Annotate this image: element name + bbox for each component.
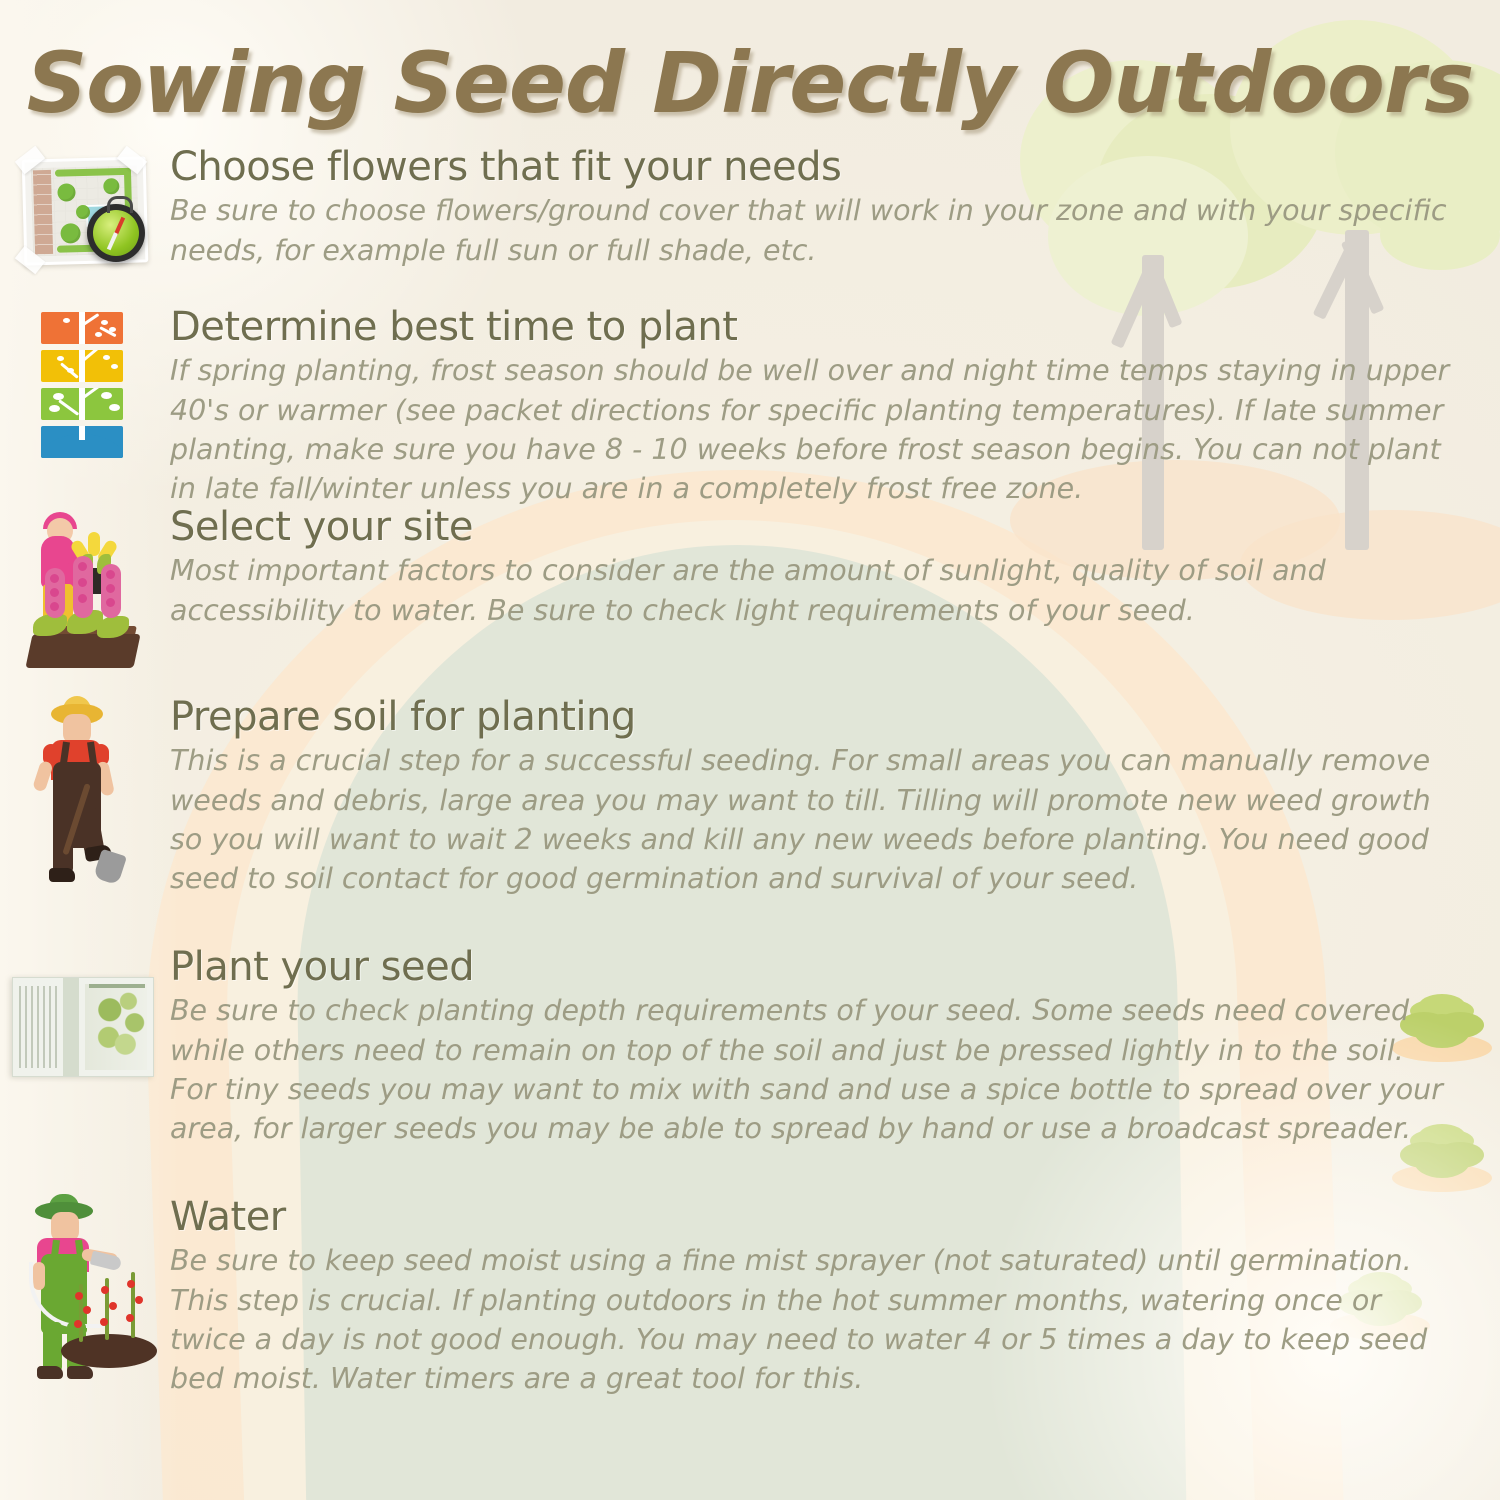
step-section: Plant your seed Be sure to check plantin…: [0, 946, 1500, 1196]
step-body: If spring planting, frost season should …: [170, 351, 1454, 508]
summer-leaf: [53, 393, 64, 400]
garden-plan-compass-icon: [15, 148, 155, 298]
autumn-leaf: [109, 327, 116, 332]
step-icon-container: [0, 1196, 170, 1386]
gardener-leg: [43, 1322, 62, 1372]
step-heading: Determine best time to plant: [170, 306, 1454, 349]
step-body: Most important factors to consider are t…: [170, 551, 1454, 630]
step-icon-container: [0, 306, 170, 466]
season-band-autumn: [41, 312, 123, 344]
page-title: Sowing Seed Directly Outdoors: [0, 34, 1500, 132]
step-heading: Water: [170, 1196, 1454, 1239]
summer-leaf: [101, 392, 112, 399]
foxglove-spike: [101, 564, 121, 618]
seed-packet-icon: [15, 946, 155, 1116]
step-body: Be sure to check planting depth requirem…: [170, 991, 1454, 1148]
season-band-winter: [41, 426, 123, 458]
infographic-poster: Sowing Seed Directly Outdoors: [0, 0, 1500, 1500]
step-icon-container: [0, 506, 170, 686]
gardener-boot: [37, 1366, 63, 1379]
step-text: Plant your seed Be sure to check plantin…: [170, 946, 1500, 1149]
season-trunk: [79, 388, 85, 420]
soil-mound: [61, 1334, 157, 1368]
four-seasons-tree-icon: [15, 306, 155, 466]
season-trunk: [79, 350, 85, 382]
step-icon-container: [0, 696, 170, 886]
compass-needle-south: [107, 232, 118, 250]
autumn-leaf: [63, 318, 70, 323]
step-text: Choose flowers that fit your needs Be su…: [170, 146, 1500, 270]
gardener-watering-hose-icon: [5, 1196, 165, 1386]
season-branch: [58, 399, 79, 416]
step-text: Select your site Most important factors …: [170, 506, 1500, 630]
farmer-boot: [49, 868, 75, 882]
spring-blossom: [103, 355, 110, 360]
packet-photo: [85, 984, 147, 1070]
compass-icon: [87, 204, 145, 262]
step-text: Water Be sure to keep seed moist using a…: [170, 1196, 1500, 1399]
step-body: Be sure to keep seed moist using a fine …: [170, 1241, 1454, 1398]
gardener-boot: [67, 1366, 93, 1379]
step-section: Determine best time to plant If spring p…: [0, 306, 1500, 506]
seasons-panel: [41, 312, 123, 460]
step-section: Prepare soil for planting This is a cruc…: [0, 696, 1500, 946]
season-trunk: [79, 426, 85, 440]
step-section: Select your site Most important factors …: [0, 506, 1500, 696]
step-icon-container: [0, 946, 170, 1116]
step-body: Be sure to choose flowers/ground cover t…: [170, 191, 1454, 270]
planter-box: [25, 634, 140, 668]
spring-blossom: [111, 364, 118, 369]
step-text: Determine best time to plant If spring p…: [170, 306, 1500, 509]
season-band-spring: [41, 350, 123, 382]
farmer-digging-shovel-icon: [15, 696, 155, 886]
step-heading: Select your site: [170, 506, 1454, 549]
step-section: Choose flowers that fit your needs Be su…: [0, 146, 1500, 306]
step-body: This is a crucial step for a successful …: [170, 741, 1454, 898]
summer-leaf: [109, 404, 120, 411]
gardener-planting-flowers-icon: [15, 506, 155, 686]
spring-blossom: [57, 356, 64, 361]
step-text: Prepare soil for planting This is a cruc…: [170, 696, 1500, 899]
steps-list: Choose flowers that fit your needs Be su…: [0, 146, 1500, 1446]
foxglove-spike: [73, 556, 93, 618]
step-heading: Choose flowers that fit your needs: [170, 146, 1454, 189]
step-icon-container: [0, 146, 170, 296]
spring-blossom: [67, 368, 74, 373]
flower-petal: [88, 532, 100, 556]
seed-packet: [12, 977, 154, 1077]
autumn-leaf: [101, 320, 108, 325]
step-heading: Plant your seed: [170, 946, 1454, 989]
season-band-summer: [41, 388, 123, 420]
season-trunk: [79, 312, 85, 344]
step-heading: Prepare soil for planting: [170, 696, 1454, 739]
packet-side-label: [89, 984, 145, 988]
step-section: Water Be sure to keep seed moist using a…: [0, 1196, 1500, 1446]
summer-leaf: [49, 405, 60, 412]
packet-band: [63, 978, 79, 1076]
autumn-leaf: [95, 332, 102, 337]
packet-text-lines: [19, 986, 57, 1068]
compass-ring: [107, 196, 133, 213]
plan-walkway: [33, 170, 53, 254]
foxglove-spike: [45, 568, 65, 618]
